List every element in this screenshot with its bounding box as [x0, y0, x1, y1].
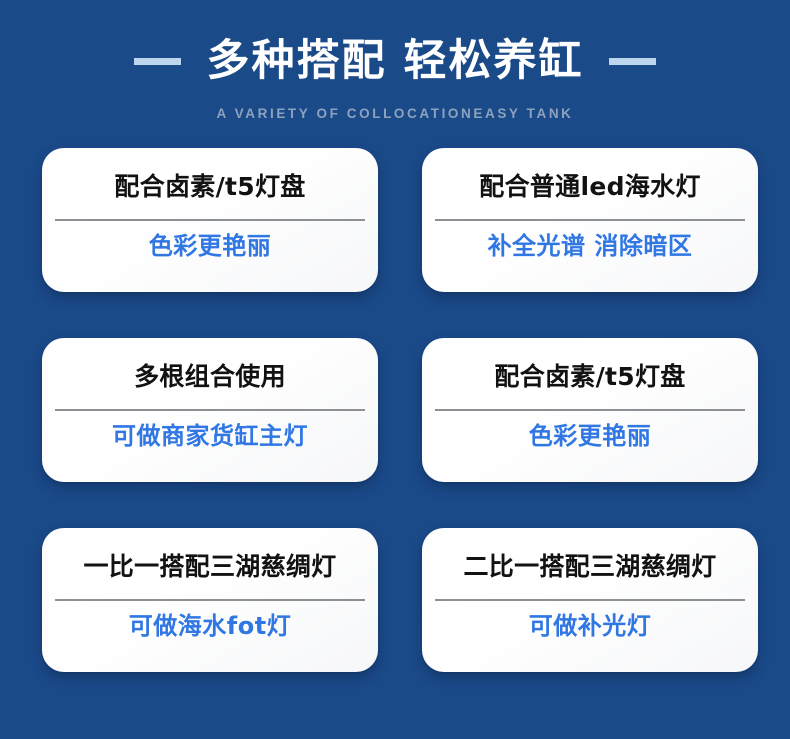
- feature-card-grid: 配合卤素/t5灯盘 色彩更艳丽 配合普通led海水灯 补全光谱 消除暗区 多根组…: [42, 148, 758, 672]
- feature-card[interactable]: 配合卤素/t5灯盘 色彩更艳丽: [42, 148, 378, 292]
- feature-card[interactable]: 多根组合使用 可做商家货缸主灯: [42, 338, 378, 482]
- card-subtext: 色彩更艳丽: [529, 420, 652, 452]
- feature-card[interactable]: 配合卤素/t5灯盘 色彩更艳丽: [422, 338, 758, 482]
- page-title: 多种搭配 轻松养缸: [207, 32, 584, 90]
- card-subtext: 补全光谱 消除暗区: [488, 230, 693, 262]
- feature-card[interactable]: 配合普通led海水灯 补全光谱 消除暗区: [422, 148, 758, 292]
- card-subtext: 可做海水fot灯: [129, 610, 291, 642]
- card-divider: [55, 219, 365, 221]
- title-dash-left-icon: [134, 58, 181, 65]
- feature-card[interactable]: 二比一搭配三湖慈绸灯 可做补光灯: [422, 528, 758, 672]
- page-subtitle: A VARIETY OF COLLOCATIONEASY TANK: [0, 106, 790, 122]
- title-row: 多种搭配 轻松养缸: [0, 30, 790, 92]
- card-divider: [55, 409, 365, 411]
- feature-card[interactable]: 一比一搭配三湖慈绸灯 可做海水fot灯: [42, 528, 378, 672]
- card-heading: 一比一搭配三湖慈绸灯: [83, 550, 336, 584]
- card-divider: [435, 219, 745, 221]
- card-subtext: 可做商家货缸主灯: [112, 420, 308, 452]
- card-heading: 配合卤素/t5灯盘: [494, 360, 685, 394]
- page-header: 多种搭配 轻松养缸 A VARIETY OF COLLOCATIONEASY T…: [0, 0, 790, 122]
- card-divider: [55, 599, 365, 601]
- card-subtext: 色彩更艳丽: [149, 230, 272, 262]
- card-heading: 配合普通led海水灯: [479, 170, 700, 204]
- card-subtext: 可做补光灯: [529, 610, 652, 642]
- title-dash-right-icon: [609, 58, 656, 65]
- card-heading: 配合卤素/t5灯盘: [114, 170, 305, 204]
- card-heading: 二比一搭配三湖慈绸灯: [463, 550, 716, 584]
- card-heading: 多根组合使用: [134, 360, 286, 394]
- card-divider: [435, 409, 745, 411]
- card-divider: [435, 599, 745, 601]
